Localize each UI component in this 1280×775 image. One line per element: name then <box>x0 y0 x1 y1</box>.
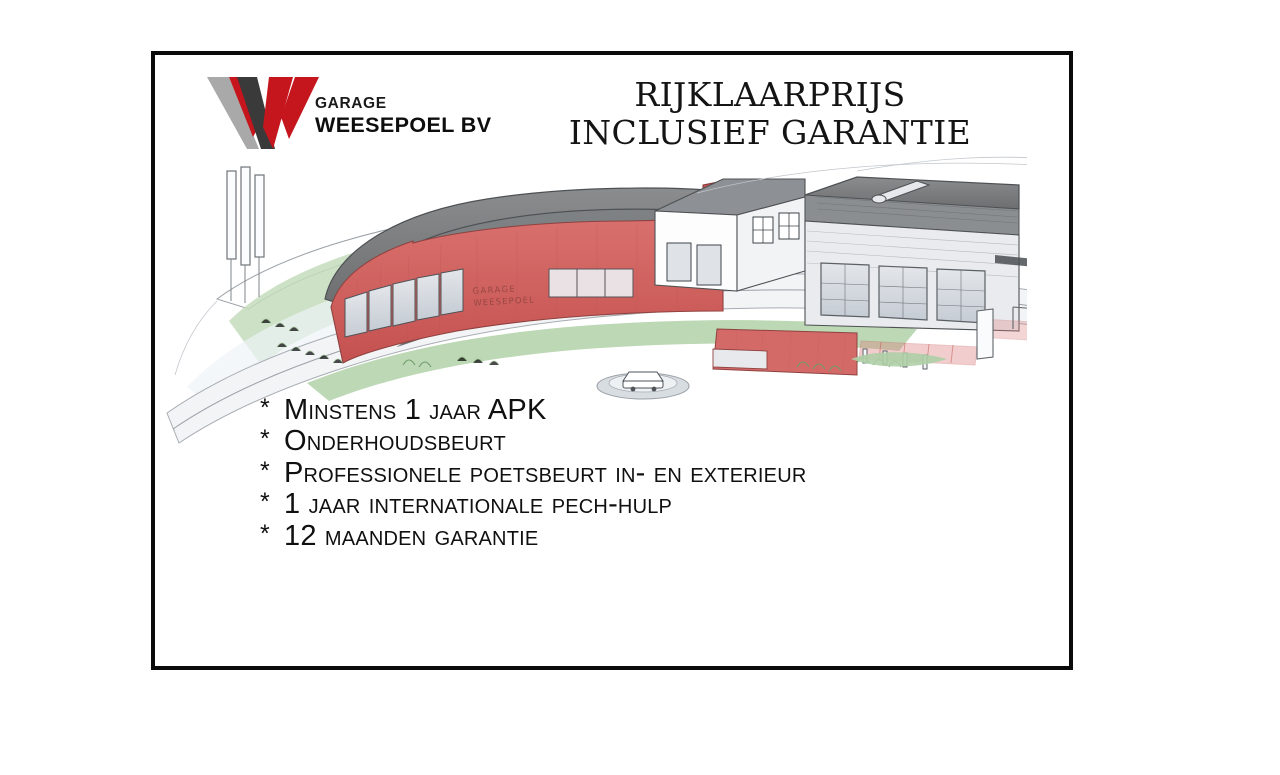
benefits-list: *Minstens 1 jaar APK *Onderhoudsbeurt *P… <box>260 395 1050 552</box>
headline-line-2: INCLUSIEF GARANTIE <box>485 114 1055 152</box>
bullet-marker: * <box>260 458 284 485</box>
bullet-marker: * <box>260 426 284 453</box>
weesepoel-w-logo-icon <box>207 75 327 153</box>
poster-canvas: GARAGE WEESEPOEL BV RIJKLAARPRIJS INCLUS… <box>0 0 1280 775</box>
list-item: *1 jaar internationale pech-hulp <box>260 489 1050 520</box>
bullet-marker: * <box>260 395 284 422</box>
page-title: RIJKLAARPRIJS INCLUSIEF GARANTIE <box>485 76 1055 153</box>
brand-logo: GARAGE WEESEPOEL BV <box>207 75 482 157</box>
benefit-label: Minstens 1 jaar APK <box>284 395 547 426</box>
list-item: *Onderhoudsbeurt <box>260 426 1050 457</box>
list-item: *12 maanden garantie <box>260 521 1050 552</box>
benefit-label: 1 jaar internationale pech-hulp <box>284 489 672 520</box>
brand-name-weesepoel: WEESEPOEL BV <box>315 115 495 137</box>
advert-frame: GARAGE WEESEPOEL BV RIJKLAARPRIJS INCLUS… <box>151 51 1073 670</box>
benefit-label: Onderhoudsbeurt <box>284 426 506 457</box>
bullet-marker: * <box>260 489 284 516</box>
benefit-label: 12 maanden garantie <box>284 521 538 552</box>
headline-line-1: RIJKLAARPRIJS <box>485 76 1055 114</box>
list-item: *Professionele poetsbeurt in- en exterie… <box>260 458 1050 489</box>
list-item: *Minstens 1 jaar APK <box>260 395 1050 426</box>
benefit-label: Professionele poetsbeurt in- en exterieu… <box>284 458 807 489</box>
brand-wordmark: GARAGE WEESEPOEL BV <box>315 96 495 136</box>
brand-name-garage: GARAGE <box>315 96 495 112</box>
bullet-marker: * <box>260 521 284 548</box>
